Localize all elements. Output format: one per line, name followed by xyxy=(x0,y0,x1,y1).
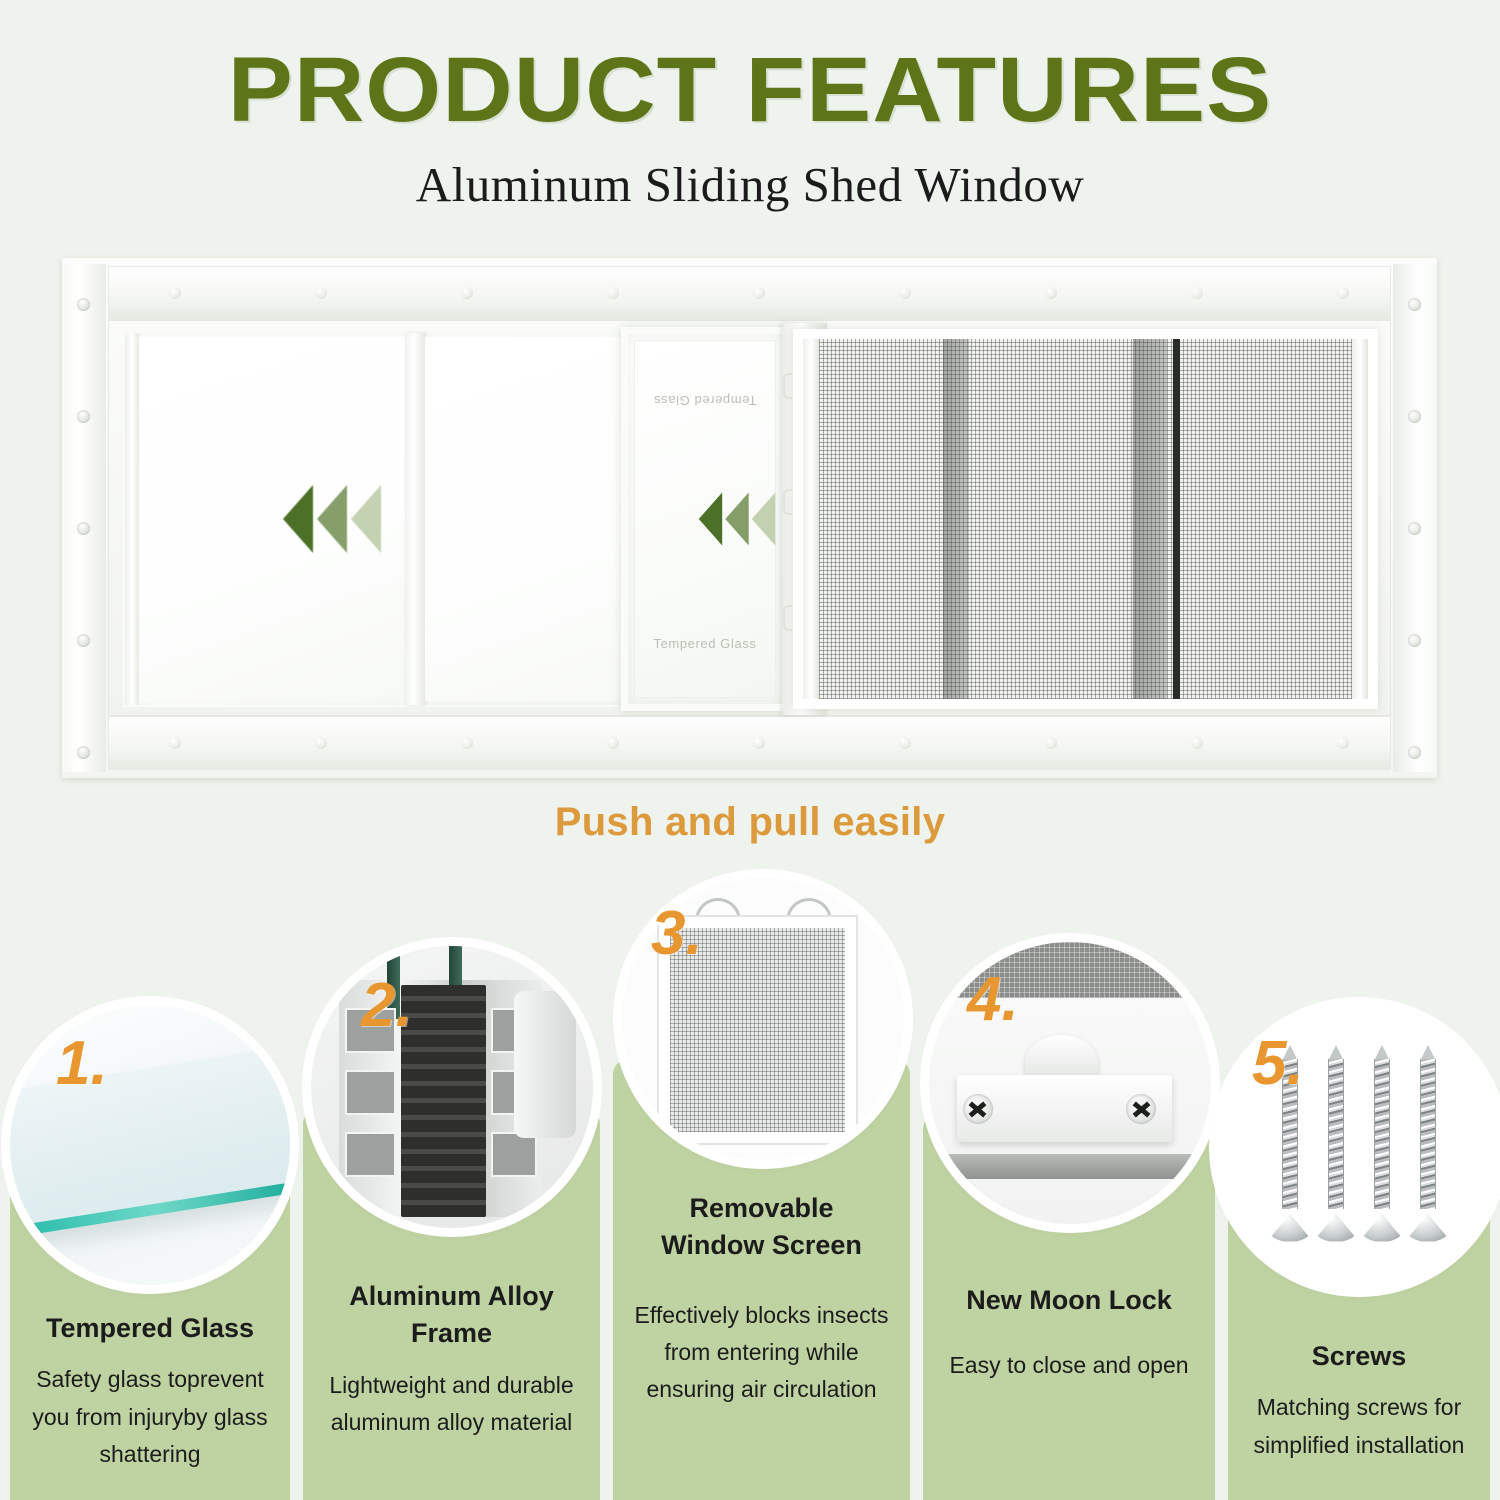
flange-screw xyxy=(1408,746,1421,759)
card-title: Removable Window Screen xyxy=(654,1190,869,1265)
rail-screw xyxy=(753,287,765,299)
window-inner-frame: Tempered Glass Tempered Glass xyxy=(108,320,1391,716)
mesh-shadow-bar-1 xyxy=(943,339,969,699)
push-pull-caption: Push and pull easily xyxy=(0,800,1500,845)
card-number: 5. xyxy=(1252,1028,1304,1099)
card-description: Easy to close and open xyxy=(929,1347,1209,1384)
page-subtitle: Aluminum Sliding Shed Window xyxy=(0,156,1500,213)
mullion xyxy=(405,333,425,705)
feature-card-window-screen[interactable]: 3. Removable Window Screen Effectively b… xyxy=(613,860,910,1500)
screen-clip-3 xyxy=(783,605,793,631)
flange-screw xyxy=(1408,410,1421,423)
rail-screw xyxy=(607,287,619,299)
sash-edge-left xyxy=(125,333,139,705)
feature-card-tempered-glass[interactable]: 1. Tempered Glass Safety glass toprevent… xyxy=(10,860,290,1500)
card-description: Safety glass toprevent you from injuryby… xyxy=(24,1361,276,1473)
flange-screw xyxy=(77,634,90,647)
tempered-glass-photo xyxy=(10,1005,290,1285)
card-number: 3. xyxy=(651,898,703,969)
hero-window-image: Tempered Glass Tempered Glass xyxy=(62,258,1437,778)
card-title: Aluminum Alloy Frame xyxy=(313,1278,590,1353)
rail-screw xyxy=(1191,737,1203,749)
rail-screw xyxy=(315,737,327,749)
feature-card-aluminum-frame[interactable]: 2. Aluminum Alloy Frame Lightweight and … xyxy=(303,860,600,1500)
screen-stile-left xyxy=(803,339,819,699)
flange-screw xyxy=(77,522,90,535)
screen-stile-right xyxy=(1352,339,1368,699)
rail-screw xyxy=(899,287,911,299)
card-description: Lightweight and durable aluminum alloy m… xyxy=(313,1367,590,1442)
feature-cards-row: 1. Tempered Glass Safety glass toprevent… xyxy=(0,860,1500,1500)
page-title: PRODUCT FEATURES xyxy=(0,44,1500,136)
rail-screw xyxy=(899,737,911,749)
bottom-rail xyxy=(108,716,1391,770)
card-title: Tempered Glass xyxy=(24,1310,276,1347)
card-description: Matching screws for simplified installat… xyxy=(1232,1389,1486,1464)
flange-screw xyxy=(1408,522,1421,535)
screen-clip-1 xyxy=(783,373,793,399)
screen-mesh xyxy=(803,339,1368,699)
rail-screw xyxy=(1337,737,1349,749)
tempered-glass-label-top: Tempered Glass xyxy=(635,393,775,408)
flange-screw xyxy=(1408,634,1421,647)
tempered-glass-label-bottom: Tempered Glass xyxy=(635,636,775,651)
card-title: Screws xyxy=(1232,1338,1486,1375)
rail-screw xyxy=(461,287,473,299)
rail-screw xyxy=(753,737,765,749)
card-text-block: Removable Window Screen Effectively bloc… xyxy=(613,1190,910,1408)
screen-clip-2 xyxy=(783,489,793,515)
slide-arrow-center xyxy=(699,492,775,545)
page-header: PRODUCT FEATURES Aluminum Sliding Shed W… xyxy=(0,0,1500,213)
rail-screw xyxy=(461,737,473,749)
card-text-block: Tempered Glass Safety glass toprevent yo… xyxy=(10,1310,290,1473)
flange-right xyxy=(1393,264,1437,772)
card-text-block: Screws Matching screws for simplified in… xyxy=(1228,1338,1490,1464)
mesh-shadow-bar-3 xyxy=(1173,339,1180,699)
card-text-block: Aluminum Alloy Frame Lightweight and dur… xyxy=(303,1278,600,1441)
slide-arrow-left xyxy=(283,485,381,553)
rail-screw xyxy=(1045,287,1057,299)
flange-screw xyxy=(77,746,90,759)
rail-screw xyxy=(1191,287,1203,299)
card-text-block: New Moon Lock Easy to close and open xyxy=(923,1282,1215,1385)
card-image-bubble xyxy=(10,1005,290,1285)
card-number: 2. xyxy=(361,970,413,1041)
card-number: 1. xyxy=(56,1028,108,1099)
flange-screw xyxy=(1408,298,1421,311)
rail-screw xyxy=(1045,737,1057,749)
sash-area: Tempered Glass Tempered Glass xyxy=(123,331,1378,707)
rail-screw xyxy=(169,287,181,299)
flange-screw xyxy=(77,410,90,423)
window-screen-assembly xyxy=(793,329,1378,709)
rail-screw xyxy=(169,737,181,749)
top-rail xyxy=(108,266,1391,320)
aluminum-profile-photo xyxy=(311,946,593,1228)
rail-screw xyxy=(315,287,327,299)
card-image-bubble xyxy=(311,946,593,1228)
card-number: 4. xyxy=(967,964,1019,1035)
feature-card-moon-lock[interactable]: 4. New Moon Lock Easy to close and open xyxy=(923,860,1215,1500)
flange-left xyxy=(62,264,106,772)
rail-screw xyxy=(1337,287,1349,299)
flange-screw xyxy=(77,298,90,311)
rail-screw xyxy=(607,737,619,749)
card-description: Effectively blocks insects from entering… xyxy=(623,1297,900,1409)
card-title: New Moon Lock xyxy=(929,1282,1209,1319)
feature-card-screws[interactable]: 5. Screws Matching screws for simplified… xyxy=(1228,860,1490,1500)
mesh-shadow-bar-2 xyxy=(1133,339,1167,699)
